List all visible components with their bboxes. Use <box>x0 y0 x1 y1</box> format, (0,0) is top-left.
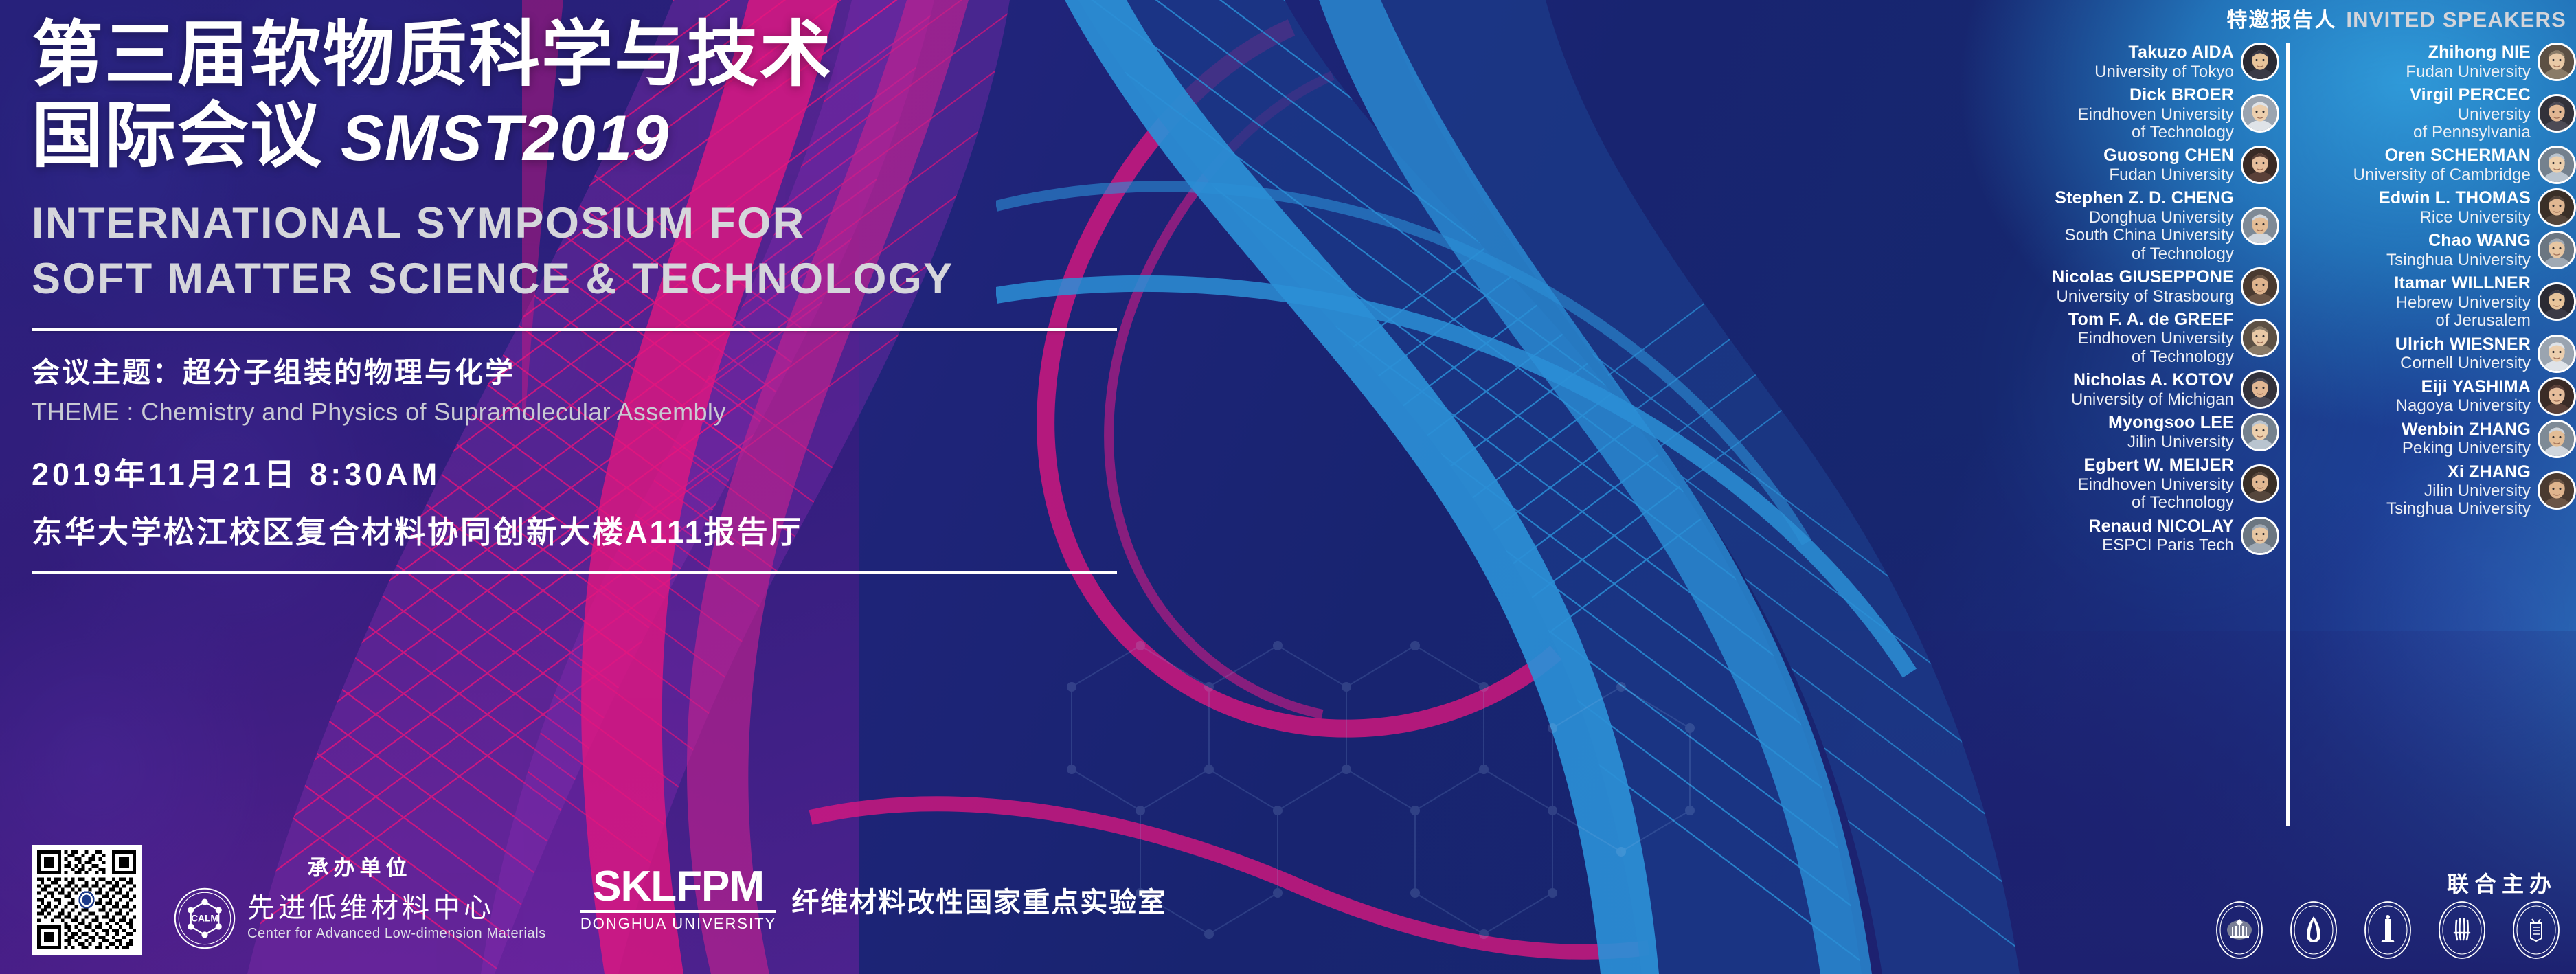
speaker-avatar <box>2538 146 2576 184</box>
speakers-header-english: INVITED SPEAKERS <box>2346 8 2566 32</box>
sklfpm-acronym: SKLFPM <box>593 867 764 907</box>
cohost-seal <box>2289 900 2338 964</box>
speaker-name: Xi ZHANG <box>2386 462 2531 483</box>
speaker-avatar <box>2241 517 2279 555</box>
speaker-affiliation: of Technology <box>2055 245 2234 263</box>
speaker-item: Guosong CHENFudan University <box>1971 146 2279 184</box>
sklfpm-university: DONGHUA UNIVERSITY <box>580 915 776 933</box>
speaker-item: Stephen Z. D. CHENGDonghua UniversitySou… <box>1971 188 2279 263</box>
speaker-meta: Renaud NICOLAYESPCI Paris Tech <box>2088 517 2234 555</box>
speaker-avatar <box>2241 319 2279 357</box>
speaker-affiliation: of Jerusalem <box>2394 312 2531 330</box>
speaker-name: Wenbin ZHANG <box>2402 420 2531 440</box>
speaker-affiliation: Eindhoven University <box>2078 476 2234 494</box>
speakers-header: 特邀报告人 INVITED SPEAKERS <box>2226 3 2566 33</box>
speaker-affiliation: Rice University <box>2379 209 2531 227</box>
speaker-affiliation: Jilin University <box>2386 482 2531 500</box>
speaker-avatar <box>2241 94 2279 133</box>
speaker-portrait-image <box>2243 45 2277 79</box>
speaker-item: Renaud NICOLAYESPCI Paris Tech <box>1971 517 2279 555</box>
speaker-name: Oren SCHERMAN <box>2353 146 2531 166</box>
speaker-affiliation: of Technology <box>2078 494 2234 512</box>
speaker-avatar <box>2538 43 2576 81</box>
speakers-column-left: Takuzo AIDAUniversity of Tokyo Dick BROE… <box>1971 43 2279 559</box>
speaker-affiliation: Nagoya University <box>2396 397 2531 415</box>
speaker-name: Virgil PERCEC <box>2410 85 2531 106</box>
acronym-smst2019: SMST2019 <box>341 102 669 174</box>
speaker-item: Oren SCHERMANUniversity of Cambridge <box>2298 146 2576 184</box>
cohost-seal <box>2363 900 2413 964</box>
speaker-portrait-image <box>2243 148 2277 182</box>
speaker-meta: Zhihong NIEFudan University <box>2406 43 2531 81</box>
speaker-item: Wenbin ZHANGPeking University <box>2298 420 2576 458</box>
divider-rule-top <box>32 328 1117 331</box>
theme-chinese: 会议主题：超分子组装的物理与化学 <box>32 349 1241 390</box>
speaker-affiliation: Fudan University <box>2406 63 2531 81</box>
speaker-affiliation: Cornell University <box>2395 354 2531 372</box>
speaker-portrait-image <box>2243 96 2277 131</box>
speaker-item: Dick BROEREindhoven Universityof Technol… <box>1971 85 2279 141</box>
speaker-portrait-image <box>2243 321 2277 355</box>
speaker-name: Stephen Z. D. CHENG <box>2055 188 2234 209</box>
speaker-portrait-image <box>2540 148 2574 182</box>
speaker-portrait-image <box>2243 415 2277 449</box>
speaker-meta: Myongsoo LEEJilin University <box>2108 413 2234 451</box>
divider-rule-bottom <box>32 571 1117 574</box>
speaker-name: Itamar WILLNER <box>2394 273 2531 294</box>
speaker-item: Xi ZHANGJilin UniversityTsinghua Univers… <box>2298 462 2576 519</box>
speaker-meta: Tom F. A. de GREEFEindhoven Universityof… <box>2068 310 2234 366</box>
speaker-name: Edwin L. THOMAS <box>2379 188 2531 209</box>
english-title-line2: SOFT MATTER SCIENCE & TECHNOLOGY <box>32 253 1241 306</box>
speaker-portrait-image <box>2243 466 2277 501</box>
speaker-name: Nicolas GIUSEPPONE <box>2052 267 2234 288</box>
speaker-affiliation: Tsinghua University <box>2386 500 2531 518</box>
speaker-avatar <box>2538 420 2576 458</box>
speaker-item: Nicolas GIUSEPPONEUniversity of Strasbou… <box>1971 267 2279 306</box>
speaker-portrait-image <box>2243 372 2277 407</box>
speaker-meta: Xi ZHANGJilin UniversityTsinghua Univers… <box>2386 462 2531 519</box>
university-seal-icon <box>2437 900 2487 960</box>
speaker-item: Egbert W. MEIJEREindhoven Universityof T… <box>1971 455 2279 512</box>
speaker-item: Zhihong NIEFudan University <box>2298 43 2576 81</box>
sklfpm-name-chinese: 纤维材料改性国家重点实验室 <box>791 880 1166 920</box>
cohost-seal-row <box>2215 900 2561 964</box>
speaker-affiliation: Hebrew University <box>2394 294 2531 312</box>
speaker-item: Tom F. A. de GREEFEindhoven Universityof… <box>1971 310 2279 366</box>
speaker-portrait-image <box>2540 422 2574 456</box>
sklfpm-block: SKLFPM DONGHUA UNIVERSITY 纤维材料改性国家重点实验室 <box>580 867 1166 933</box>
speakers-column-divider <box>2286 43 2290 826</box>
speaker-avatar <box>2241 207 2279 245</box>
speaker-name: Dick BROER <box>2078 85 2234 106</box>
speaker-avatar <box>2538 231 2576 269</box>
speaker-affiliation: Eindhoven University <box>2078 106 2234 124</box>
speakers-header-chinese: 特邀报告人 <box>2226 3 2336 33</box>
speaker-meta: Eiji YASHIMANagoya University <box>2396 377 2531 416</box>
speaker-meta: Itamar WILLNERHebrew Universityof Jerusa… <box>2394 273 2531 330</box>
qr-code-image <box>37 850 136 949</box>
speaker-portrait-image <box>2243 269 2277 304</box>
speaker-affiliation: Tsinghua University <box>2386 251 2531 269</box>
speaker-portrait-image <box>2540 96 2574 131</box>
speaker-portrait-image <box>2540 337 2574 371</box>
speaker-portrait-image <box>2540 473 2574 508</box>
host-organization-block: 承办单位 CALM 先进低维材料中心 Center for A <box>173 850 546 950</box>
english-title-line1: INTERNATIONAL SYMPOSIUM FOR <box>32 197 1241 250</box>
speakers-column-right: Zhihong NIEFudan University Virgil PERCE… <box>2298 43 2576 523</box>
university-seal-icon <box>2215 900 2264 960</box>
calm-seal-icon: CALM <box>173 887 236 950</box>
speaker-name: Nicholas A. KOTOV <box>2071 370 2234 391</box>
calm-logo-row: CALM 先进低维材料中心 Center for Advanced Low-di… <box>173 887 546 950</box>
event-datetime: 2019年11月21日 8:30AM <box>32 449 1241 494</box>
speaker-affiliation: Jilin University <box>2108 433 2234 451</box>
speaker-affiliation: University of Tokyo <box>2094 63 2234 81</box>
speaker-item: Ulrich WIESNERCornell University <box>2298 335 2576 373</box>
speaker-avatar <box>2538 188 2576 227</box>
invited-speakers-panel: 特邀报告人 INVITED SPEAKERS Takuzo AIDAUniver… <box>1971 0 2576 974</box>
speaker-affiliation: Donghua University <box>2055 209 2234 227</box>
speaker-portrait-image <box>2540 379 2574 414</box>
university-seal-icon <box>2363 900 2413 960</box>
speaker-affiliation: Peking University <box>2402 440 2531 457</box>
speaker-avatar <box>2241 43 2279 81</box>
speaker-affiliation: Eindhoven University <box>2068 330 2234 348</box>
chinese-title-line2: 国际会议SMST2019 <box>32 96 1241 177</box>
speaker-meta: Takuzo AIDAUniversity of Tokyo <box>2094 43 2234 81</box>
speaker-affiliation: University of Strasbourg <box>2052 288 2234 306</box>
speaker-meta: Nicholas A. KOTOVUniversity of Michigan <box>2071 370 2234 409</box>
host-label: 承办单位 <box>307 850 411 881</box>
cohost-seal <box>2215 900 2264 964</box>
speaker-affiliation: University of Cambridge <box>2353 166 2531 184</box>
calm-name-chinese: 先进低维材料中心 <box>247 894 546 922</box>
sklfpm-divider <box>580 910 776 913</box>
sklfpm-logo: SKLFPM DONGHUA UNIVERSITY <box>580 867 776 933</box>
sponsor-row: 承办单位 CALM 先进低维材料中心 Center for A <box>32 845 1166 955</box>
speaker-avatar <box>2538 471 2576 510</box>
speaker-meta: Oren SCHERMANUniversity of Cambridge <box>2353 146 2531 184</box>
conference-poster: 第三届软物质科学与技术 国际会议SMST2019 INTERNATIONAL S… <box>0 0 2576 974</box>
speaker-name: Zhihong NIE <box>2406 43 2531 63</box>
speaker-affiliation: of Pennsylvania <box>2410 124 2531 141</box>
speaker-affiliation: South China University <box>2055 227 2234 245</box>
speaker-item: Virgil PERCECUniversityof Pennsylvania <box>2298 85 2576 141</box>
speaker-name: Ulrich WIESNER <box>2395 335 2531 355</box>
speaker-portrait-image <box>2540 190 2574 225</box>
calm-name-english: Center for Advanced Low-dimension Materi… <box>247 926 546 942</box>
speaker-affiliation: University <box>2410 106 2531 124</box>
speaker-avatar <box>2538 282 2576 321</box>
speaker-item: Eiji YASHIMANagoya University <box>2298 377 2576 416</box>
speaker-meta: Ulrich WIESNERCornell University <box>2395 335 2531 373</box>
speaker-item: Chao WANGTsinghua University <box>2298 231 2576 269</box>
speaker-meta: Nicolas GIUSEPPONEUniversity of Strasbou… <box>2052 267 2234 306</box>
speaker-portrait-image <box>2540 45 2574 79</box>
speaker-name: Tom F. A. de GREEF <box>2068 310 2234 330</box>
speaker-avatar <box>2538 94 2576 133</box>
speaker-portrait-image <box>2243 519 2277 553</box>
speaker-portrait-image <box>2540 233 2574 267</box>
title-block: 第三届软物质科学与技术 国际会议SMST2019 INTERNATIONAL S… <box>32 15 1241 574</box>
cohost-seal <box>2511 900 2561 964</box>
speaker-affiliation: of Technology <box>2078 124 2234 141</box>
speaker-affiliation: ESPCI Paris Tech <box>2088 536 2234 554</box>
speaker-item: Myongsoo LEEJilin University <box>1971 413 2279 451</box>
cohost-seal <box>2437 900 2487 964</box>
speaker-meta: Chao WANGTsinghua University <box>2386 231 2531 269</box>
qr-code[interactable] <box>32 845 142 955</box>
speaker-meta: Edwin L. THOMASRice University <box>2379 188 2531 227</box>
speaker-portrait-image <box>2540 284 2574 319</box>
speaker-name: Egbert W. MEIJER <box>2078 455 2234 476</box>
speaker-name: Myongsoo LEE <box>2108 413 2234 433</box>
speaker-meta: Stephen Z. D. CHENGDonghua UniversitySou… <box>2055 188 2234 263</box>
speaker-affiliation: of Technology <box>2068 348 2234 366</box>
speaker-meta: Egbert W. MEIJEREindhoven Universityof T… <box>2078 455 2234 512</box>
speaker-portrait-image <box>2243 209 2277 243</box>
speaker-avatar <box>2241 146 2279 184</box>
calm-seal-text: CALM <box>191 913 218 923</box>
speaker-meta: Wenbin ZHANGPeking University <box>2402 420 2531 458</box>
speaker-meta: Guosong CHENFudan University <box>2103 146 2234 184</box>
speaker-name: Takuzo AIDA <box>2094 43 2234 63</box>
speaker-affiliation: University of Michigan <box>2071 391 2234 409</box>
speaker-affiliation: Fudan University <box>2103 166 2234 184</box>
chinese-title-line2-text: 国际会议 <box>32 96 323 176</box>
theme-english: THEME : Chemistry and Physics of Supramo… <box>32 398 1241 427</box>
university-seal-icon <box>2289 900 2338 960</box>
speaker-name: Eiji YASHIMA <box>2396 377 2531 398</box>
speaker-item: Nicholas A. KOTOVUniversity of Michigan <box>1971 370 2279 409</box>
speaker-avatar <box>2241 370 2279 409</box>
speaker-meta: Dick BROEREindhoven Universityof Technol… <box>2078 85 2234 141</box>
speaker-avatar <box>2538 335 2576 373</box>
speaker-avatar <box>2538 377 2576 416</box>
speaker-item: Itamar WILLNERHebrew Universityof Jerusa… <box>2298 273 2576 330</box>
speaker-avatar <box>2241 413 2279 451</box>
speaker-avatar <box>2241 464 2279 503</box>
speaker-avatar <box>2241 267 2279 306</box>
speaker-name: Guosong CHEN <box>2103 146 2234 166</box>
speaker-item: Takuzo AIDAUniversity of Tokyo <box>1971 43 2279 81</box>
speaker-meta: Virgil PERCECUniversityof Pennsylvania <box>2410 85 2531 141</box>
speaker-name: Chao WANG <box>2386 231 2531 251</box>
chinese-title-line1: 第三届软物质科学与技术 <box>32 15 1241 96</box>
event-venue: 东华大学松江校区复合材料协同创新大楼A111报告厅 <box>32 507 1241 552</box>
university-seal-icon <box>2511 900 2561 960</box>
speaker-name: Renaud NICOLAY <box>2088 517 2234 537</box>
speaker-item: Edwin L. THOMASRice University <box>2298 188 2576 227</box>
cohost-label: 联合主办 <box>2447 867 2557 898</box>
